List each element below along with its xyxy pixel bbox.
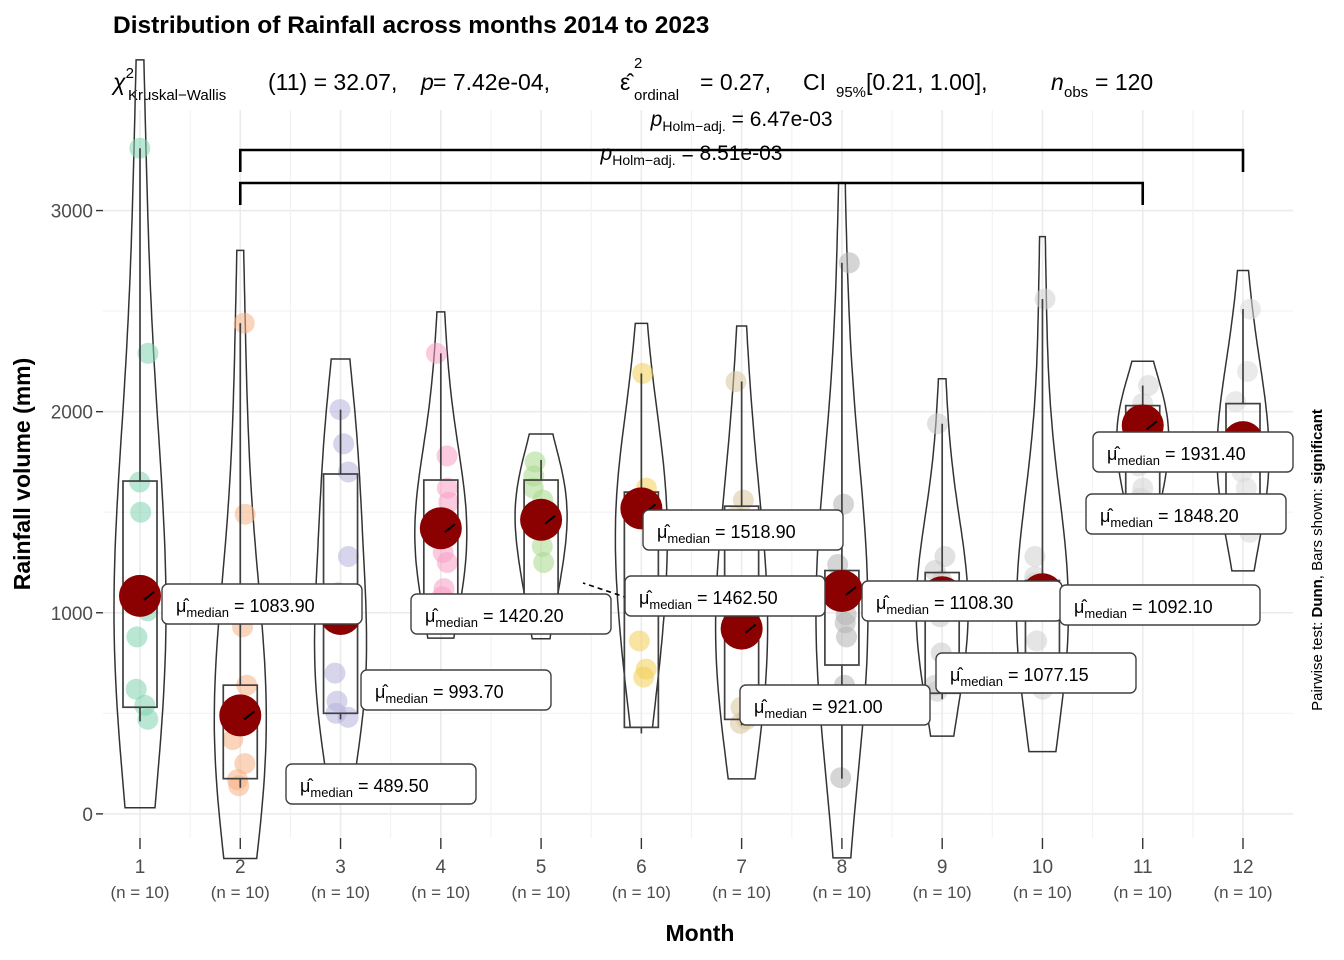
x-tick-label: 6 <box>636 857 647 878</box>
median-value: = 489.50 <box>353 776 429 796</box>
y-tick-label: 2000 <box>51 403 93 424</box>
data-point <box>234 313 255 334</box>
y-tick-label: 1000 <box>51 604 93 625</box>
median-value: = 1083.90 <box>229 596 315 616</box>
ci-symbol: CI <box>803 69 826 95</box>
x-tick-label: 7 <box>736 857 747 878</box>
plot-panel <box>103 110 1293 838</box>
p-numeric: = 6.47e-03 <box>726 108 833 131</box>
page-title: Distribution of Rainfall across months 2… <box>113 12 709 39</box>
median-subscript: median <box>186 605 229 620</box>
median-subscript: median <box>310 785 353 800</box>
median-marker <box>520 499 562 541</box>
median-subscript: median <box>667 531 710 546</box>
chi-superscript: 2 <box>126 65 134 82</box>
median-subscript: median <box>886 602 929 617</box>
median-label: μ̂median = 1077.15 <box>936 653 1136 693</box>
epsilon-superscript: 2 <box>634 55 642 72</box>
median-label: μ̂median = 1462.50 <box>625 576 825 616</box>
median-subscript: median <box>1110 515 1153 530</box>
x-tick-label: 9 <box>937 857 948 878</box>
x-tick-sublabel: (n = 10) <box>211 883 270 902</box>
y-tick-label: 0 <box>82 805 93 826</box>
data-point <box>1035 289 1056 310</box>
x-tick-label: 2 <box>235 857 246 878</box>
median-label: μ̂median = 1092.10 <box>1060 585 1260 625</box>
chi-symbol: χ <box>111 69 126 95</box>
data-point <box>1237 361 1258 382</box>
median-value: = 1077.15 <box>1003 665 1089 685</box>
p-subscript: Holm−adj. <box>662 118 725 134</box>
median-subscript: median <box>385 691 428 706</box>
p-numeric: = 8.51e-03 <box>676 142 783 165</box>
x-tick-label: 4 <box>436 857 447 878</box>
x-tick-sublabel: (n = 10) <box>1013 883 1072 902</box>
median-label: μ̂median = 993.70 <box>361 670 551 710</box>
x-tick-sublabel: (n = 10) <box>913 883 972 902</box>
median-label: μ̂median = 489.50 <box>286 764 476 804</box>
svg-text:Pairwise test: Dunn, Bars show: Pairwise test: Dunn, Bars shown: signifi… <box>1309 409 1326 711</box>
p-italic-symbol: p <box>600 142 613 165</box>
x-tick-label: 1 <box>135 857 146 878</box>
median-subscript: median <box>649 597 692 612</box>
epsilon-value: = 0.27, <box>700 69 771 95</box>
caption-prefix: Pairwise test: <box>1309 618 1326 711</box>
median-marker <box>219 694 261 736</box>
x-tick-label: 8 <box>837 857 848 878</box>
p-value: = 7.42e-04, <box>433 69 550 95</box>
x-tick-sublabel: (n = 10) <box>612 883 671 902</box>
x-tick-label: 11 <box>1133 857 1153 878</box>
data-point <box>426 343 447 364</box>
median-label: μ̂median = 921.00 <box>740 685 930 725</box>
epsilon-subscript: ordinal <box>634 87 679 104</box>
ci-subscript: 95% <box>836 84 866 101</box>
median-value: = 1420.20 <box>478 606 564 626</box>
x-tick-sublabel: (n = 10) <box>1213 883 1272 902</box>
x-tick-sublabel: (n = 10) <box>311 883 370 902</box>
x-tick-label: 10 <box>1032 857 1053 878</box>
median-subscript: median <box>1117 453 1160 468</box>
median-marker <box>420 507 462 549</box>
data-point <box>830 767 851 788</box>
data-point <box>235 504 256 525</box>
median-subscript: median <box>960 674 1003 689</box>
data-point <box>1138 375 1159 396</box>
n-symbol: n <box>1051 69 1064 95</box>
p-symbol: p <box>420 69 434 95</box>
x-tick-sublabel: (n = 10) <box>1113 883 1172 902</box>
data-point <box>333 433 354 454</box>
p-italic-symbol: p <box>650 108 663 131</box>
data-point <box>437 445 458 466</box>
median-subscript: median <box>435 615 478 630</box>
chi-subscript: Kruskal−Wallis <box>128 87 226 104</box>
n-value: = 120 <box>1095 69 1153 95</box>
data-point <box>726 371 747 392</box>
median-value: = 921.00 <box>807 697 883 717</box>
median-label: μ̂median = 1848.20 <box>1086 494 1286 534</box>
caption-bold-significant: significant <box>1309 409 1326 484</box>
x-tick-sublabel: (n = 10) <box>512 883 571 902</box>
chi-df-value: (11) = 32.07, <box>268 69 397 95</box>
median-label: μ̂median = 1083.90 <box>162 584 362 624</box>
x-tick-label: 5 <box>536 857 547 878</box>
panel-background <box>103 110 1293 838</box>
caption-mid: , Bars shown: <box>1309 484 1326 579</box>
median-label: μ̂median = 1420.20 <box>411 594 611 634</box>
ci-value: [0.21, 1.00], <box>866 69 987 95</box>
y-tick-label: 3000 <box>51 202 93 223</box>
x-tick-label: 3 <box>335 857 346 878</box>
x-tick-sublabel: (n = 10) <box>712 883 771 902</box>
median-value: = 1462.50 <box>692 588 778 608</box>
rainfall-violin-boxplot: Distribution of Rainfall across months 2… <box>0 0 1344 960</box>
median-subscript: median <box>764 706 807 721</box>
x-tick-sublabel: (n = 10) <box>411 883 470 902</box>
median-value: = 1108.30 <box>929 593 1013 613</box>
y-axis-title: Rainfall volume (mm) <box>9 358 35 591</box>
median-value: = 1931.40 <box>1160 444 1246 464</box>
median-value: = 1092.10 <box>1127 597 1213 617</box>
median-label: μ̂median = 1518.90 <box>643 510 843 550</box>
median-value: = 1848.20 <box>1153 506 1239 526</box>
median-marker <box>119 575 161 617</box>
caption-bold-dunn: Dunn <box>1309 579 1326 617</box>
median-marker <box>821 570 863 612</box>
median-value: = 1518.90 <box>710 522 796 542</box>
pairwise-test-caption: Pairwise test: Dunn, Bars shown: signifi… <box>1309 409 1326 711</box>
chart-root: Distribution of Rainfall across months 2… <box>0 0 1344 960</box>
x-tick-label: 12 <box>1232 857 1253 878</box>
x-axis-title: Month <box>666 920 735 946</box>
median-label: μ̂median = 1931.40 <box>1093 432 1293 472</box>
p-subscript: Holm−adj. <box>612 152 675 168</box>
x-tick-sublabel: (n = 10) <box>812 883 871 902</box>
median-value: = 993.70 <box>428 682 504 702</box>
x-tick-sublabel: (n = 10) <box>110 883 169 902</box>
data-point <box>927 413 948 434</box>
data-point <box>632 363 653 384</box>
median-subscript: median <box>1084 606 1127 621</box>
n-subscript: obs <box>1064 84 1088 101</box>
median-label: μ̂median = 1108.30 <box>862 581 1062 621</box>
